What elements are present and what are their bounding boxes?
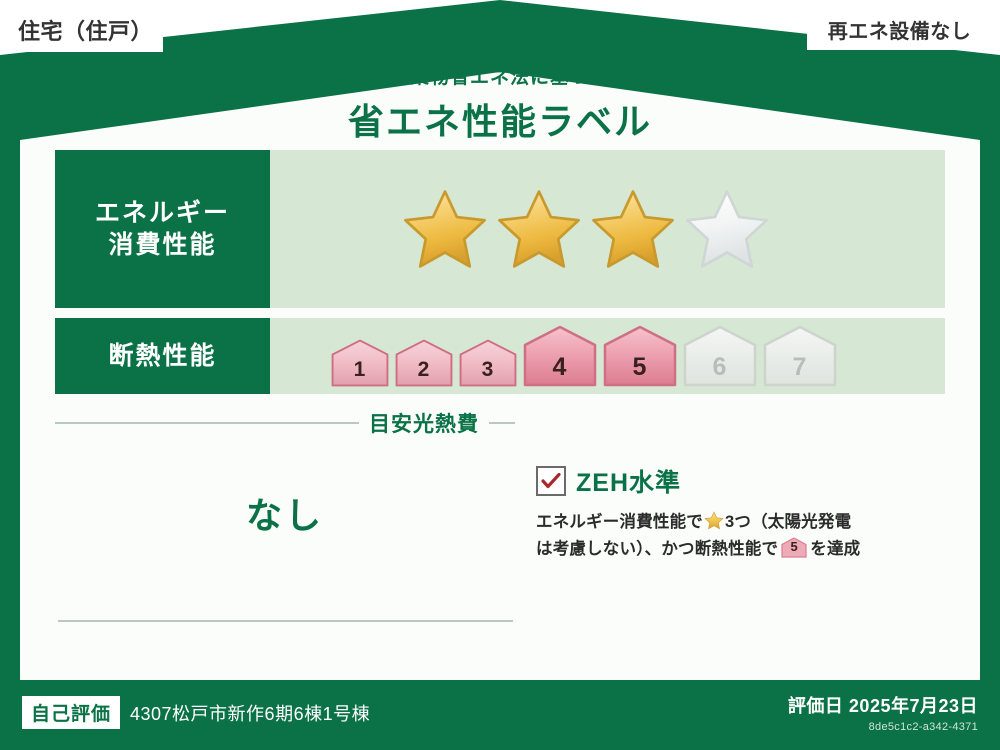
insulation-grade-1: 1	[331, 339, 389, 387]
insulation-grade-badge-inline: 5	[781, 537, 807, 558]
insulation-grade-4: 4	[523, 325, 597, 387]
energy-performance-label-cell: エネルギー 消費性能	[55, 150, 270, 308]
label-footer: 自己評価 4307松戸市新作6期6棟1号棟 評価日 2025年7月23日 8de…	[0, 682, 1000, 750]
title-subtitle: 建築物省エネ法に基づく	[0, 62, 1000, 89]
insulation-performance-label-cell: 断熱性能	[55, 318, 270, 394]
utility-cost-bottom-rule	[58, 620, 513, 622]
zeh-title: ZEH水準	[576, 463, 681, 499]
energy-performance-value-cell	[270, 150, 945, 308]
insulation-grade-number: 5	[633, 353, 647, 387]
insulation-grade-number: 4	[553, 353, 567, 387]
heading-rule-left	[55, 422, 359, 424]
footer-right-group: 評価日 2025年7月23日 8de5c1c2-a342-4371	[788, 692, 978, 733]
building-name: 4307松戸市新作6期6棟1号棟	[130, 700, 370, 726]
energy-label-line2: 消費性能	[108, 229, 216, 261]
evaluation-id: 8de5c1c2-a342-4371	[788, 721, 978, 733]
insulation-grade-badge-number: 5	[781, 536, 807, 558]
insulation-grade-6: 6	[683, 325, 757, 387]
building-type-tag: 住宅（住戸）	[8, 8, 163, 52]
zeh-desc-part2: 3つ（太陽光発電	[725, 513, 851, 531]
self-evaluation-badge: 自己評価	[22, 696, 120, 729]
insulation-grade-number: 1	[354, 358, 366, 387]
insulation-performance-row: 断熱性能 1234567	[55, 318, 945, 394]
utility-cost-value: なし	[55, 487, 515, 539]
zeh-desc-part3: は考慮しない）、かつ断熱性能で	[536, 540, 778, 558]
insulation-grade-2: 2	[395, 339, 453, 387]
insulation-grade-number: 3	[482, 358, 494, 387]
energy-performance-label: 住宅（住戸） 再エネ設備なし 建築物省エネ法に基づく 省エネ性能ラベル エネルギ…	[0, 0, 1000, 750]
zeh-standard-block: ZEH水準 エネルギー消費性能で3つ（太陽光発電 は考慮しない）、かつ断熱性能で…	[536, 463, 948, 564]
utility-cost-heading-text: 目安光熱費	[369, 408, 479, 438]
star-icon-filled	[402, 188, 488, 270]
zeh-checkbox[interactable]	[536, 466, 566, 496]
footer-left-group: 自己評価 4307松戸市新作6期6棟1号棟	[22, 696, 370, 729]
utility-cost-heading: 目安光熱費	[55, 408, 515, 438]
star-icon-empty	[684, 188, 770, 270]
renewable-energy-tag: 再エネ設備なし	[807, 8, 992, 50]
star-icon-inline	[704, 511, 724, 530]
insulation-grade-5: 5	[603, 325, 677, 387]
insulation-grade-number: 6	[713, 353, 727, 387]
zeh-heading: ZEH水準	[536, 463, 948, 499]
insulation-performance-value-cell: 1234567	[270, 318, 945, 394]
zeh-description: エネルギー消費性能で3つ（太陽光発電 は考慮しない）、かつ断熱性能で5を達成	[536, 509, 948, 564]
star-rating	[402, 188, 770, 270]
evaluation-date-label: 評価日	[788, 696, 844, 716]
zeh-desc-part4: を達成	[810, 540, 860, 558]
evaluation-date: 評価日 2025年7月23日	[788, 692, 978, 718]
insulation-grade-number: 2	[418, 358, 430, 387]
heading-rule-right	[489, 422, 515, 424]
label-title-block: 建築物省エネ法に基づく 省エネ性能ラベル	[0, 62, 1000, 145]
star-icon-filled	[496, 188, 582, 270]
energy-label-line1: エネルギー	[95, 197, 230, 229]
insulation-grade-3: 3	[459, 339, 517, 387]
insulation-grade-7: 7	[763, 325, 837, 387]
insulation-grade-number: 7	[793, 353, 807, 387]
zeh-desc-part1: エネルギー消費性能で	[536, 513, 703, 531]
insulation-grade-scale: 1234567	[331, 325, 837, 387]
insulation-label-text: 断熱性能	[108, 340, 216, 372]
evaluation-date-value: 2025年7月23日	[849, 696, 978, 716]
page-title: 省エネ性能ラベル	[0, 93, 1000, 145]
star-icon-filled	[590, 188, 676, 270]
check-icon	[541, 473, 561, 489]
energy-performance-row: エネルギー 消費性能	[55, 150, 945, 308]
